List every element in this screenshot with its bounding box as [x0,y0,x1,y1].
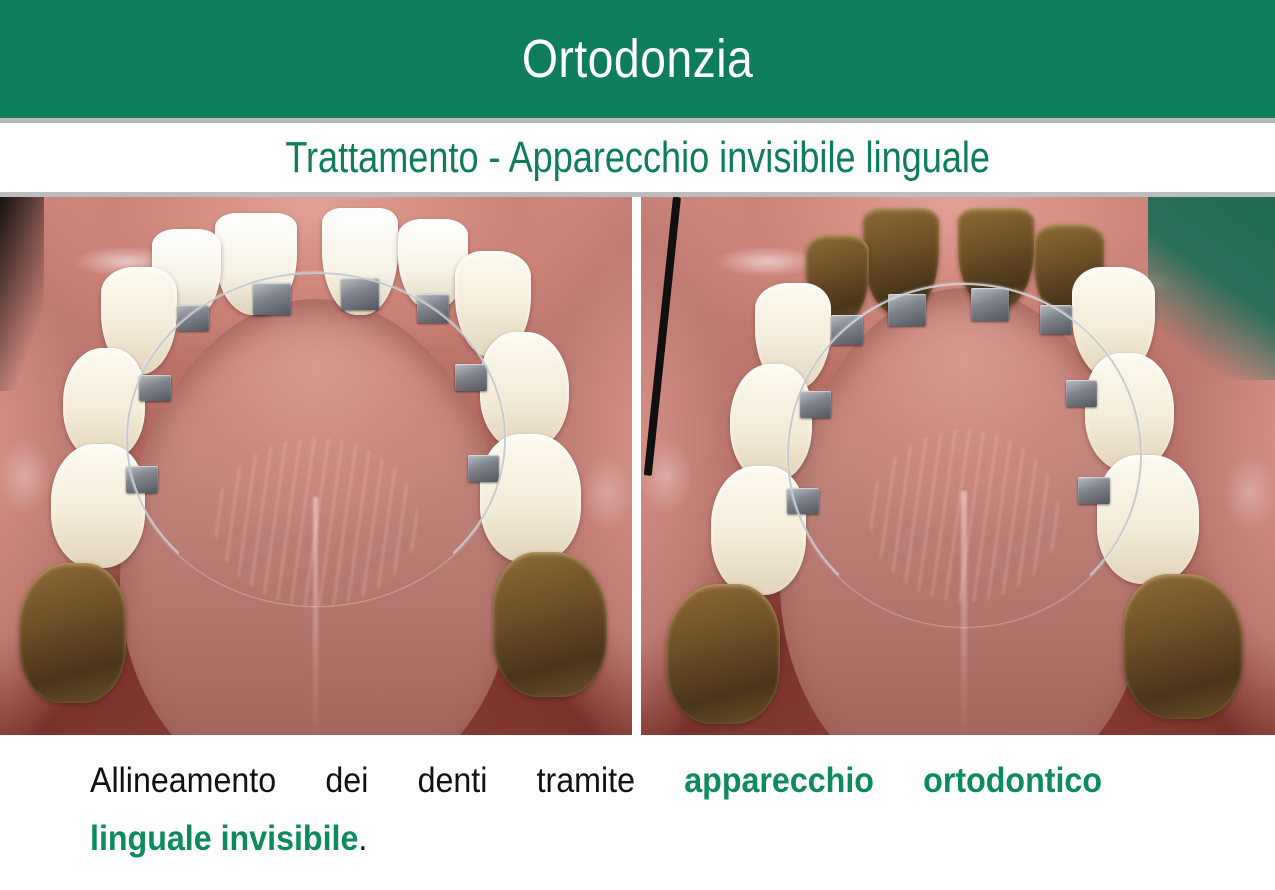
caption-highlight-2: linguale invisibile [90,819,358,858]
clinical-photo-right[interactable]: Dottori Di Gioia Studio Associato di Odo… [641,197,1275,735]
lingual-archwire [787,283,1142,627]
background-teal-corner [1148,197,1275,380]
page-title: Ortodonzia [522,32,753,86]
tooth-molar-crown-right [493,552,607,697]
caption-text: Allineamento dei denti tramite apparecch… [90,752,1102,868]
photo-separator [632,197,641,735]
tooth-molar-crown-left [19,563,126,703]
caption-line-1: Allineamento dei denti tramite apparecch… [90,752,1102,810]
lingual-archwire [126,272,505,606]
caption-period: . [358,819,367,858]
caption-highlight-1: apparecchio ortodontico [684,761,1102,800]
caption-line-2: linguale invisibile. [90,810,1102,868]
tooth-molar-crown-right [1123,574,1243,719]
clinical-photo-left[interactable]: Dottori Di Gioia Studio Associato di Odo… [0,197,632,735]
photo-gallery: Dottori Di Gioia Studio Associato di Odo… [0,197,1275,735]
tooth-molar-crown-left [666,584,780,724]
intraoral-photo-right-scene: Dottori Di Gioia Studio Associato di Odo… [641,197,1275,735]
photo-dark-corner [0,197,44,391]
page-root: Ortodonzia Trattamento - Apparecchio inv… [0,0,1275,890]
subtitle-band: Trattamento - Apparecchio invisibile lin… [0,123,1275,192]
caption-plain-text: Allineamento dei denti tramite [90,761,684,800]
page-subtitle: Trattamento - Apparecchio invisibile lin… [285,136,990,180]
header-band: Ortodonzia [0,0,1275,118]
intraoral-photo-left-scene: Dottori Di Gioia Studio Associato di Odo… [0,197,632,735]
